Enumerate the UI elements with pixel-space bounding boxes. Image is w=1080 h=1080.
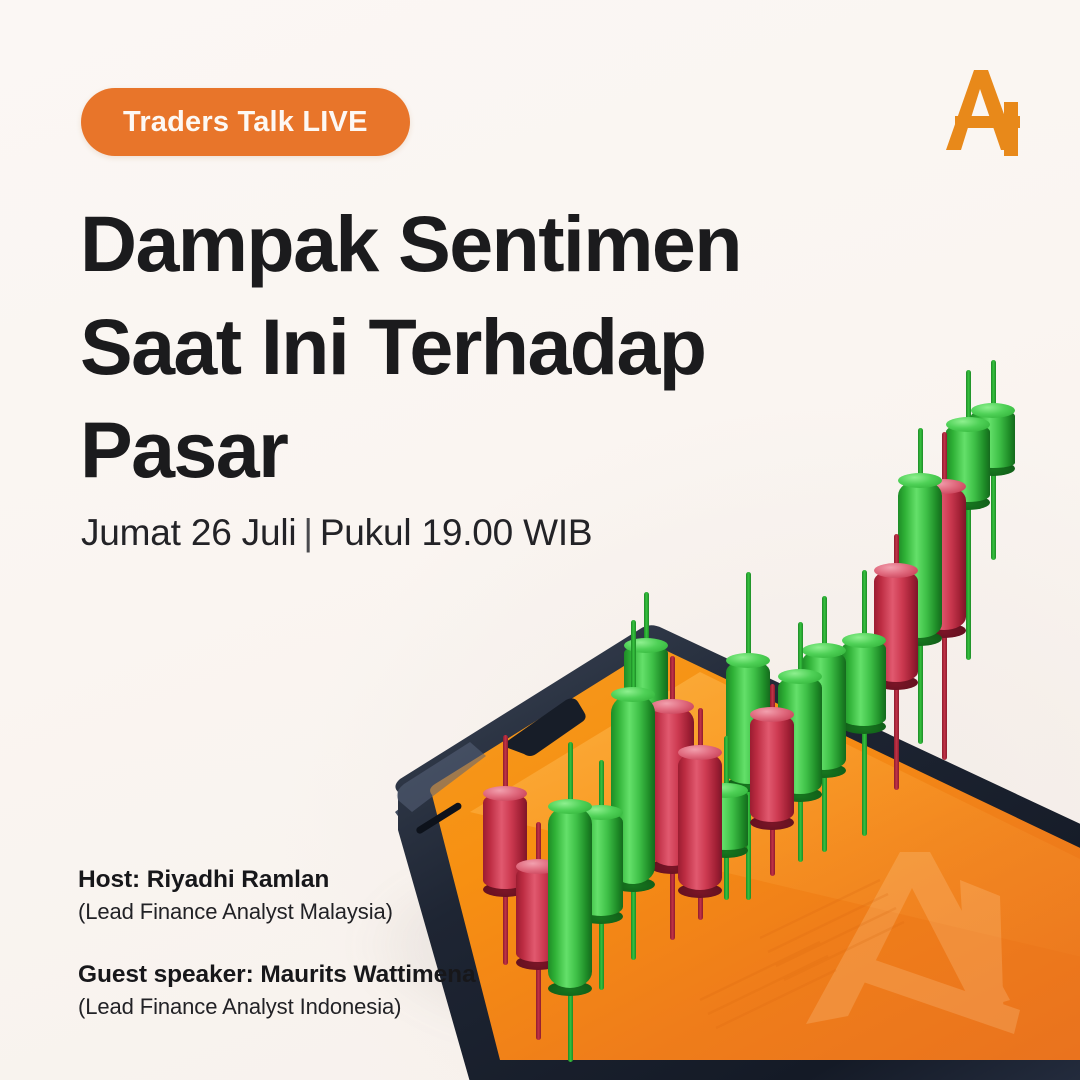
candle-wick xyxy=(536,822,541,1040)
candle-body xyxy=(704,790,748,850)
event-date: Jumat 26 Juli xyxy=(81,512,296,553)
candle-top xyxy=(922,479,966,494)
candle-top xyxy=(726,653,770,668)
candle-top xyxy=(650,699,694,714)
candle-top xyxy=(704,783,748,798)
candle-body xyxy=(483,793,527,889)
host-block: Host: Riyadhi Ramlan (Lead Finance Analy… xyxy=(78,866,476,925)
screen-watermark-logo xyxy=(806,852,1020,1034)
candle-top xyxy=(971,403,1015,418)
phone-body xyxy=(395,625,1080,1080)
headline-line-1: Dampak Sentimen xyxy=(80,192,840,295)
candle-top xyxy=(579,805,623,820)
candle-top xyxy=(802,643,846,658)
candle-base xyxy=(750,815,794,830)
candle-body xyxy=(750,714,794,822)
headline-line-3: Pasar xyxy=(80,398,840,501)
candle-16-up xyxy=(898,0,942,1080)
candle-wick xyxy=(568,742,573,1062)
candle-base xyxy=(548,981,592,996)
candle-wick xyxy=(631,620,636,960)
candle-body xyxy=(898,480,942,638)
guest-role: (Lead Finance Analyst Indonesia) xyxy=(78,994,476,1020)
candle-8-down xyxy=(678,0,722,1080)
candle-body xyxy=(842,640,886,726)
candle-body xyxy=(548,806,592,988)
candle-top xyxy=(611,687,655,702)
candle-top xyxy=(516,859,560,874)
promo-poster: Traders Talk LIVE Dampak Sentimen Saat I… xyxy=(0,0,1080,1080)
candle-wick xyxy=(644,592,649,828)
candle-base xyxy=(726,777,770,792)
page-title: Dampak Sentimen Saat Ini Terhadap Pasar xyxy=(80,192,840,501)
candle-body xyxy=(778,676,822,794)
candle-base xyxy=(802,763,846,778)
candle-top xyxy=(898,473,942,488)
candle-base xyxy=(842,719,886,734)
candle-base xyxy=(611,877,655,892)
candle-top xyxy=(874,563,918,578)
phone-screen xyxy=(430,649,1080,1061)
candle-base xyxy=(650,859,694,874)
host-name: Host: Riyadhi Ramlan xyxy=(78,866,476,894)
candle-body xyxy=(579,812,623,916)
candle-base xyxy=(898,631,942,646)
candle-body xyxy=(678,752,722,890)
candle-9-up xyxy=(704,0,748,1080)
candle-top xyxy=(750,707,794,722)
candle-body xyxy=(624,645,668,725)
candle-base xyxy=(704,843,748,858)
candle-body xyxy=(922,486,966,630)
candle-body xyxy=(874,570,918,682)
candle-wick xyxy=(966,370,971,660)
candle-wick xyxy=(746,572,751,900)
candle-wick xyxy=(770,684,775,876)
candle-body xyxy=(650,706,694,866)
candle-10-up xyxy=(726,0,770,1080)
candle-12-up xyxy=(778,0,822,1080)
candle-wick xyxy=(724,736,729,900)
candle-base xyxy=(624,718,668,733)
candle-wick xyxy=(942,432,947,760)
guest-block: Guest speaker: Maurits Wattimena (Lead F… xyxy=(78,961,476,1020)
candle-wick xyxy=(991,360,996,560)
candle-wick xyxy=(599,760,604,990)
candle-base xyxy=(579,909,623,924)
candle-top xyxy=(842,633,886,648)
candle-top xyxy=(778,669,822,684)
candle-base xyxy=(483,882,527,897)
candle-19-up xyxy=(971,0,1015,1080)
candle-15-down xyxy=(874,0,918,1080)
candle-wick xyxy=(698,708,703,920)
candle-body xyxy=(726,660,770,784)
candle-top xyxy=(678,745,722,760)
live-badge-label: Traders Talk LIVE xyxy=(123,106,368,139)
candle-base xyxy=(971,461,1015,476)
screen-texture xyxy=(700,880,904,1028)
phone-notch xyxy=(505,698,586,756)
screen-sheen xyxy=(470,672,1080,985)
candle-body xyxy=(946,424,990,502)
octa-a-logo-icon xyxy=(928,58,1032,162)
candle-base xyxy=(678,883,722,898)
candle-top xyxy=(946,417,990,432)
candle-top xyxy=(548,799,592,814)
candle-wick xyxy=(822,596,827,852)
candle-base xyxy=(778,787,822,802)
candle-base xyxy=(922,623,966,638)
candle-wick xyxy=(894,534,899,790)
headline-line-2: Saat Ini Terhadap xyxy=(80,295,840,398)
candle-wick xyxy=(862,570,867,836)
host-role: (Lead Finance Analyst Malaysia) xyxy=(78,899,476,925)
candle-body xyxy=(611,694,655,884)
candle-7-down xyxy=(650,0,694,1080)
phone-speaker xyxy=(415,801,463,834)
candle-body xyxy=(516,866,560,962)
candle-14-up xyxy=(842,0,886,1080)
candle-17-down xyxy=(922,0,966,1080)
candle-13-up xyxy=(802,0,846,1080)
candle-18-up xyxy=(946,0,990,1080)
candle-wick xyxy=(918,428,923,744)
speaker-credits: Host: Riyadhi Ramlan (Lead Finance Analy… xyxy=(78,866,476,1056)
event-datetime: Jumat 26 Juli|Pukul 19.00 WIB xyxy=(81,512,592,554)
candle-11-down xyxy=(750,0,794,1080)
candle-body xyxy=(802,650,846,770)
candle-wick xyxy=(503,735,508,965)
candle-wick xyxy=(798,622,803,862)
event-time: Pukul 19.00 WIB xyxy=(320,512,593,553)
candle-body xyxy=(971,410,1015,468)
candle-top xyxy=(483,786,527,801)
phone-side xyxy=(395,768,1080,1080)
datetime-separator: | xyxy=(296,512,319,553)
candle-base xyxy=(874,675,918,690)
candle-6-up xyxy=(624,0,668,1080)
candle-wick xyxy=(670,656,675,940)
live-badge[interactable]: Traders Talk LIVE xyxy=(81,88,410,156)
candle-base xyxy=(516,955,560,970)
candle-5-up xyxy=(611,0,655,1080)
guest-name: Guest speaker: Maurits Wattimena xyxy=(78,961,476,989)
candle-top xyxy=(624,638,668,653)
candle-base xyxy=(946,495,990,510)
phone-bezel-highlight xyxy=(397,742,486,812)
